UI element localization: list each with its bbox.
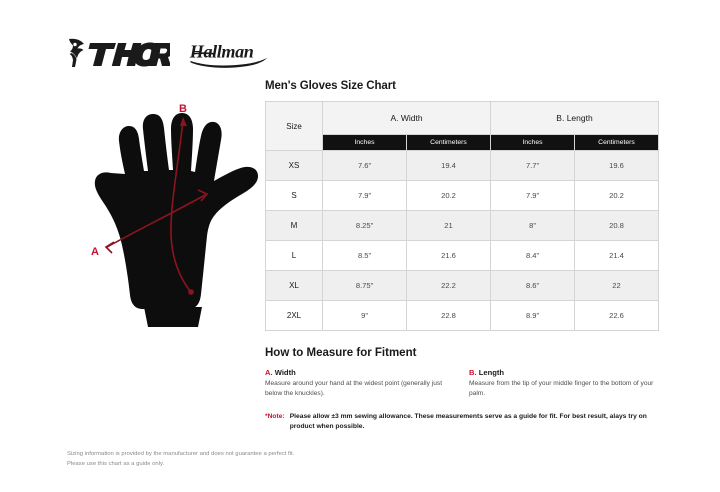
measure-description-length: Measure from the tip of your middle fing… (469, 379, 661, 398)
cell-width-centimeters: 21 (407, 211, 491, 241)
size-chart-panel: Men's Gloves Size Chart Size A. Width B.… (265, 80, 661, 432)
measure-item-width: A. Width Measure around your hand at the… (265, 368, 457, 398)
cell-width-centimeters: 20.2 (407, 181, 491, 211)
how-to-measure-columns: A. Width Measure around your hand at the… (265, 368, 661, 398)
column-header-length-centimeters: Centimeters (575, 134, 659, 150)
cell-length-inches: 8.4” (491, 241, 575, 271)
cell-size: S (266, 181, 323, 211)
column-header-width-inches: Inches (323, 134, 407, 150)
cell-size: M (266, 211, 323, 241)
measure-item-heading: A. Width (265, 368, 457, 377)
cell-length-inches: 7.7” (491, 151, 575, 181)
cell-width-inches: 8.75” (323, 271, 407, 301)
table-body: XS 7.6” 19.4 7.7” 19.6 S 7.9” 20.2 7.9” … (266, 151, 659, 331)
cell-length-inches: 8.9” (491, 301, 575, 331)
page-title: Men's Gloves Size Chart (265, 80, 661, 92)
table-row: L 8.5” 21.6 8.4” 21.4 (266, 241, 659, 271)
note-label: *Note: (265, 412, 285, 431)
svg-text:Hallman: Hallman (189, 42, 254, 62)
cell-length-centimeters: 19.6 (575, 151, 659, 181)
cell-length-inches: 8” (491, 211, 575, 241)
cell-length-inches: 7.9” (491, 181, 575, 211)
measure-arrow-a-left (106, 242, 114, 253)
column-group-width: A. Width (323, 102, 491, 135)
cell-width-centimeters: 19.4 (407, 151, 491, 181)
column-header-width-centimeters: Centimeters (407, 134, 491, 150)
footer-disclaimer: Sizing information is provided by the ma… (67, 449, 397, 469)
table-row: M 8.25” 21 8” 20.8 (266, 211, 659, 241)
size-chart-table: Size A. Width B. Length Inches Centimete… (265, 101, 659, 331)
brand-logo-bar: Hallman (62, 32, 274, 74)
cell-width-inches: 9” (323, 301, 407, 331)
measure-description-width: Measure around your hand at the widest p… (265, 379, 457, 398)
cell-width-centimeters: 22.8 (407, 301, 491, 331)
cell-size: 2XL (266, 301, 323, 331)
table-row: XL 8.75” 22.2 8.6” 22 (266, 271, 659, 301)
cell-length-inches: 8.6” (491, 271, 575, 301)
table-row: S 7.9” 20.2 7.9” 20.2 (266, 181, 659, 211)
cell-width-inches: 7.9” (323, 181, 407, 211)
cell-size: XL (266, 271, 323, 301)
cell-width-inches: 8.5” (323, 241, 407, 271)
table-row: XS 7.6” 19.4 7.7” 19.6 (266, 151, 659, 181)
footer-line-1: Sizing information is provided by the ma… (67, 449, 397, 459)
thor-logo (62, 36, 170, 70)
cell-width-inches: 8.25” (323, 211, 407, 241)
hand-measurement-diagram: B A (70, 95, 265, 330)
measure-marker-b: B. (469, 368, 477, 377)
measure-endpoint-b (188, 289, 194, 295)
cell-size: XS (266, 151, 323, 181)
column-group-length: B. Length (491, 102, 659, 135)
table-header: Size A. Width B. Length Inches Centimete… (266, 102, 659, 151)
cell-length-centimeters: 22 (575, 271, 659, 301)
measure-name-width: Width (275, 368, 296, 377)
cell-size: L (266, 241, 323, 271)
column-header-size: Size (266, 102, 323, 151)
cell-length-centimeters: 22.6 (575, 301, 659, 331)
measure-label-b: B (179, 103, 187, 115)
cell-length-centimeters: 21.4 (575, 241, 659, 271)
note-block: *Note: Please allow ±3 mm sewing allowan… (265, 412, 661, 431)
cell-width-centimeters: 22.2 (407, 271, 491, 301)
table-row: 2XL 9” 22.8 8.9” 22.6 (266, 301, 659, 331)
measure-item-length: B. Length Measure from the tip of your m… (469, 368, 661, 398)
column-header-length-inches: Inches (491, 134, 575, 150)
measure-item-heading: B. Length (469, 368, 661, 377)
cell-length-centimeters: 20.2 (575, 181, 659, 211)
how-to-measure-title: How to Measure for Fitment (265, 347, 661, 359)
cell-width-centimeters: 21.6 (407, 241, 491, 271)
hand-wrist (144, 307, 202, 327)
note-text: Please allow ±3 mm sewing allowance. The… (290, 412, 655, 431)
hallman-logo: Hallman (186, 38, 274, 68)
footer-line-2: Please use this chart as a guide only. (67, 459, 397, 469)
cell-length-centimeters: 20.8 (575, 211, 659, 241)
measure-name-length: Length (479, 368, 504, 377)
cell-width-inches: 7.6” (323, 151, 407, 181)
measure-marker-a: A. (265, 368, 273, 377)
measure-label-a: A (91, 246, 99, 258)
